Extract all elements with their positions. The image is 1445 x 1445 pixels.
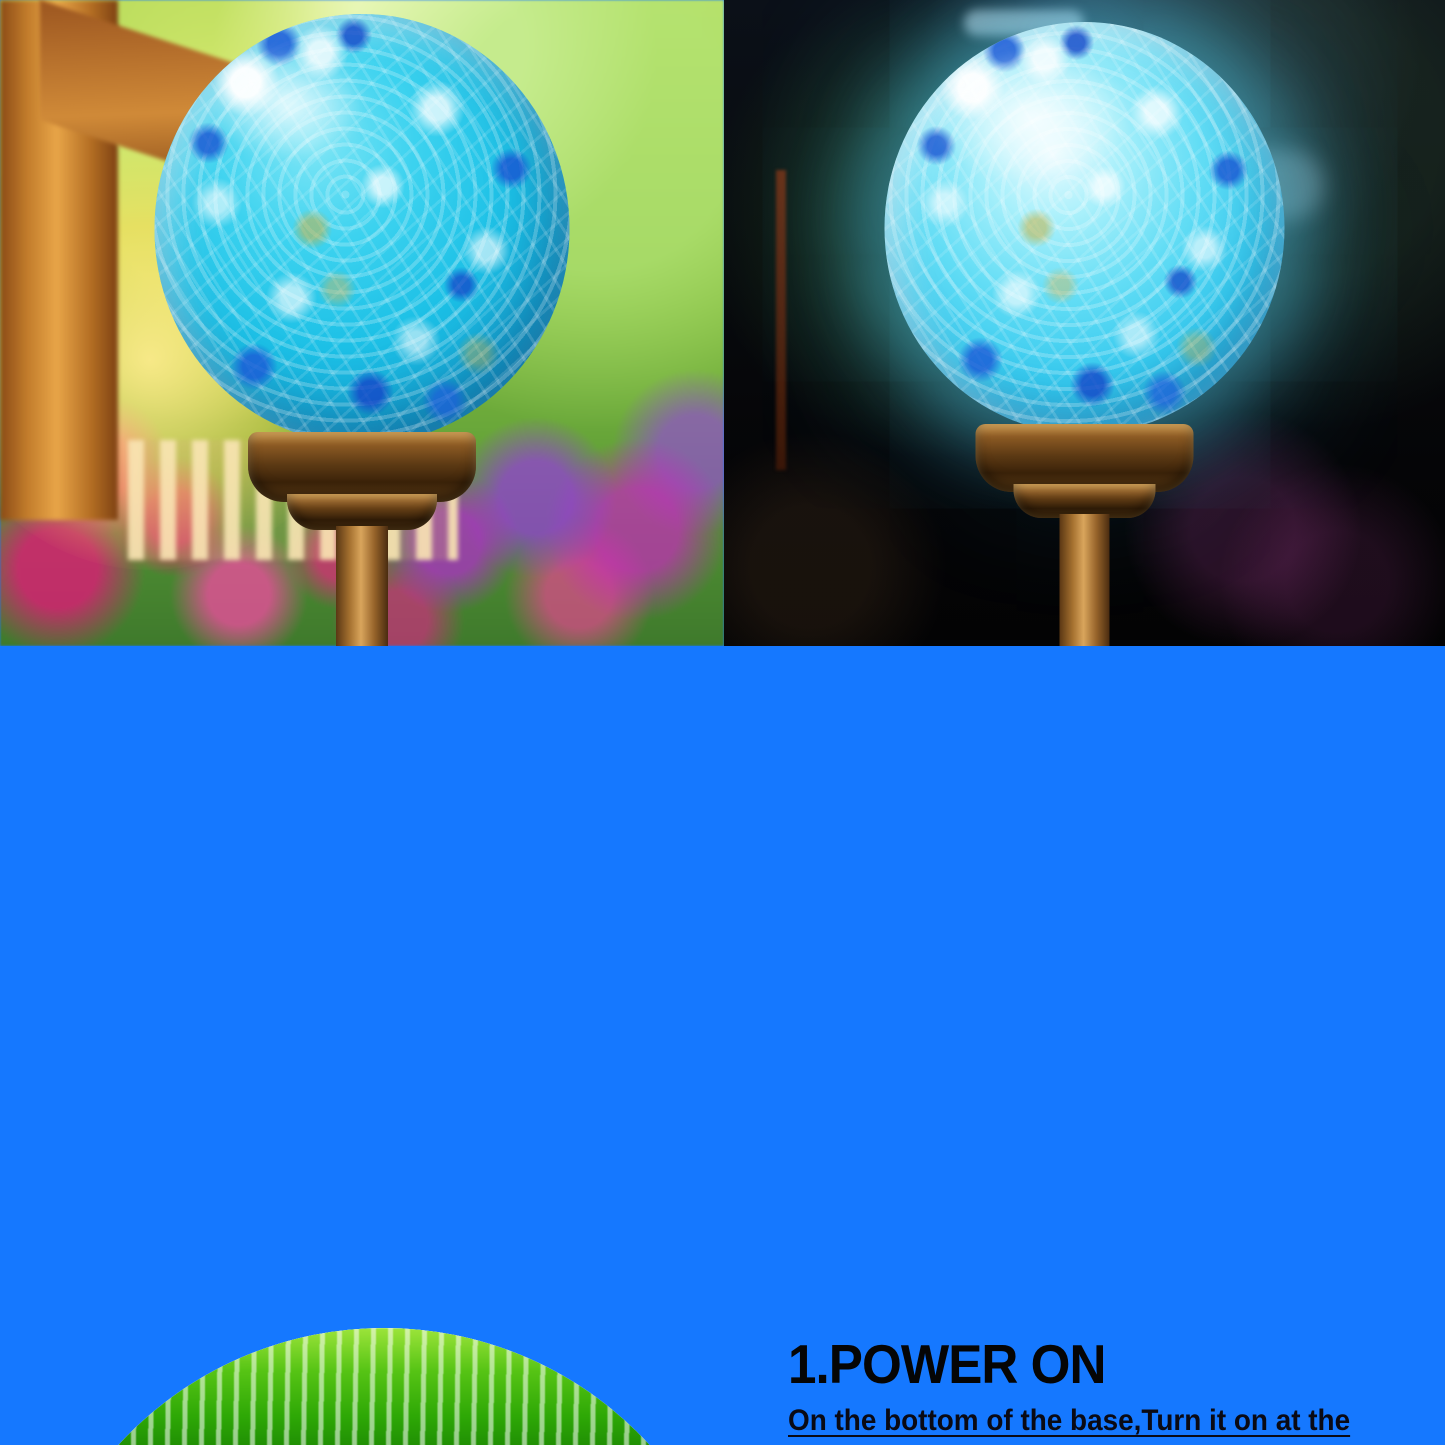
step-1-title: 1.POWER ON bbox=[788, 1336, 1383, 1394]
step-1-line-1: On the bottom of the base,Turn it on at … bbox=[788, 1400, 1383, 1443]
lamp-stake-stem-night bbox=[1060, 514, 1110, 646]
product-photo-nighttime bbox=[724, 0, 1445, 646]
globe-highlight-lit bbox=[937, 52, 1127, 182]
glass-globe-lit bbox=[885, 22, 1285, 434]
green-glass-rim bbox=[99, 1328, 669, 1445]
lamp-base-lower bbox=[287, 494, 437, 530]
lamp-base-lower-night bbox=[1014, 484, 1156, 518]
lamp-nighttime bbox=[724, 0, 1445, 646]
switch-closeup-inset: OFF ON ON THE GLASS BASE OF THE PRODUCT bbox=[24, 1328, 744, 1445]
product-infographic: OFF ON ON THE GLASS BASE OF THE PRODUCT bbox=[0, 0, 1445, 1445]
step-1-body: On the bottom of the base,Turn it on at … bbox=[788, 1400, 1383, 1445]
lamp-base-cap-night bbox=[976, 424, 1194, 492]
product-photo-daytime bbox=[0, 0, 724, 646]
instruction-panel: OFF ON ON THE GLASS BASE OF THE PRODUCT bbox=[0, 646, 1445, 1445]
lamp-stake-stem bbox=[336, 526, 388, 646]
step-power-on: 1.POWER ON On the bottom of the base,Tur… bbox=[788, 1336, 1428, 1445]
glass-texture bbox=[155, 14, 570, 444]
product-photo-strip bbox=[0, 0, 1445, 646]
instruction-steps: 1.POWER ON On the bottom of the base,Tur… bbox=[788, 1336, 1428, 1445]
glass-globe bbox=[155, 14, 570, 444]
globe-highlight bbox=[213, 50, 363, 158]
lamp-base-cap bbox=[248, 432, 476, 502]
lamp-daytime bbox=[0, 0, 724, 646]
base-closeup-photo: OFF ON bbox=[24, 1328, 744, 1445]
